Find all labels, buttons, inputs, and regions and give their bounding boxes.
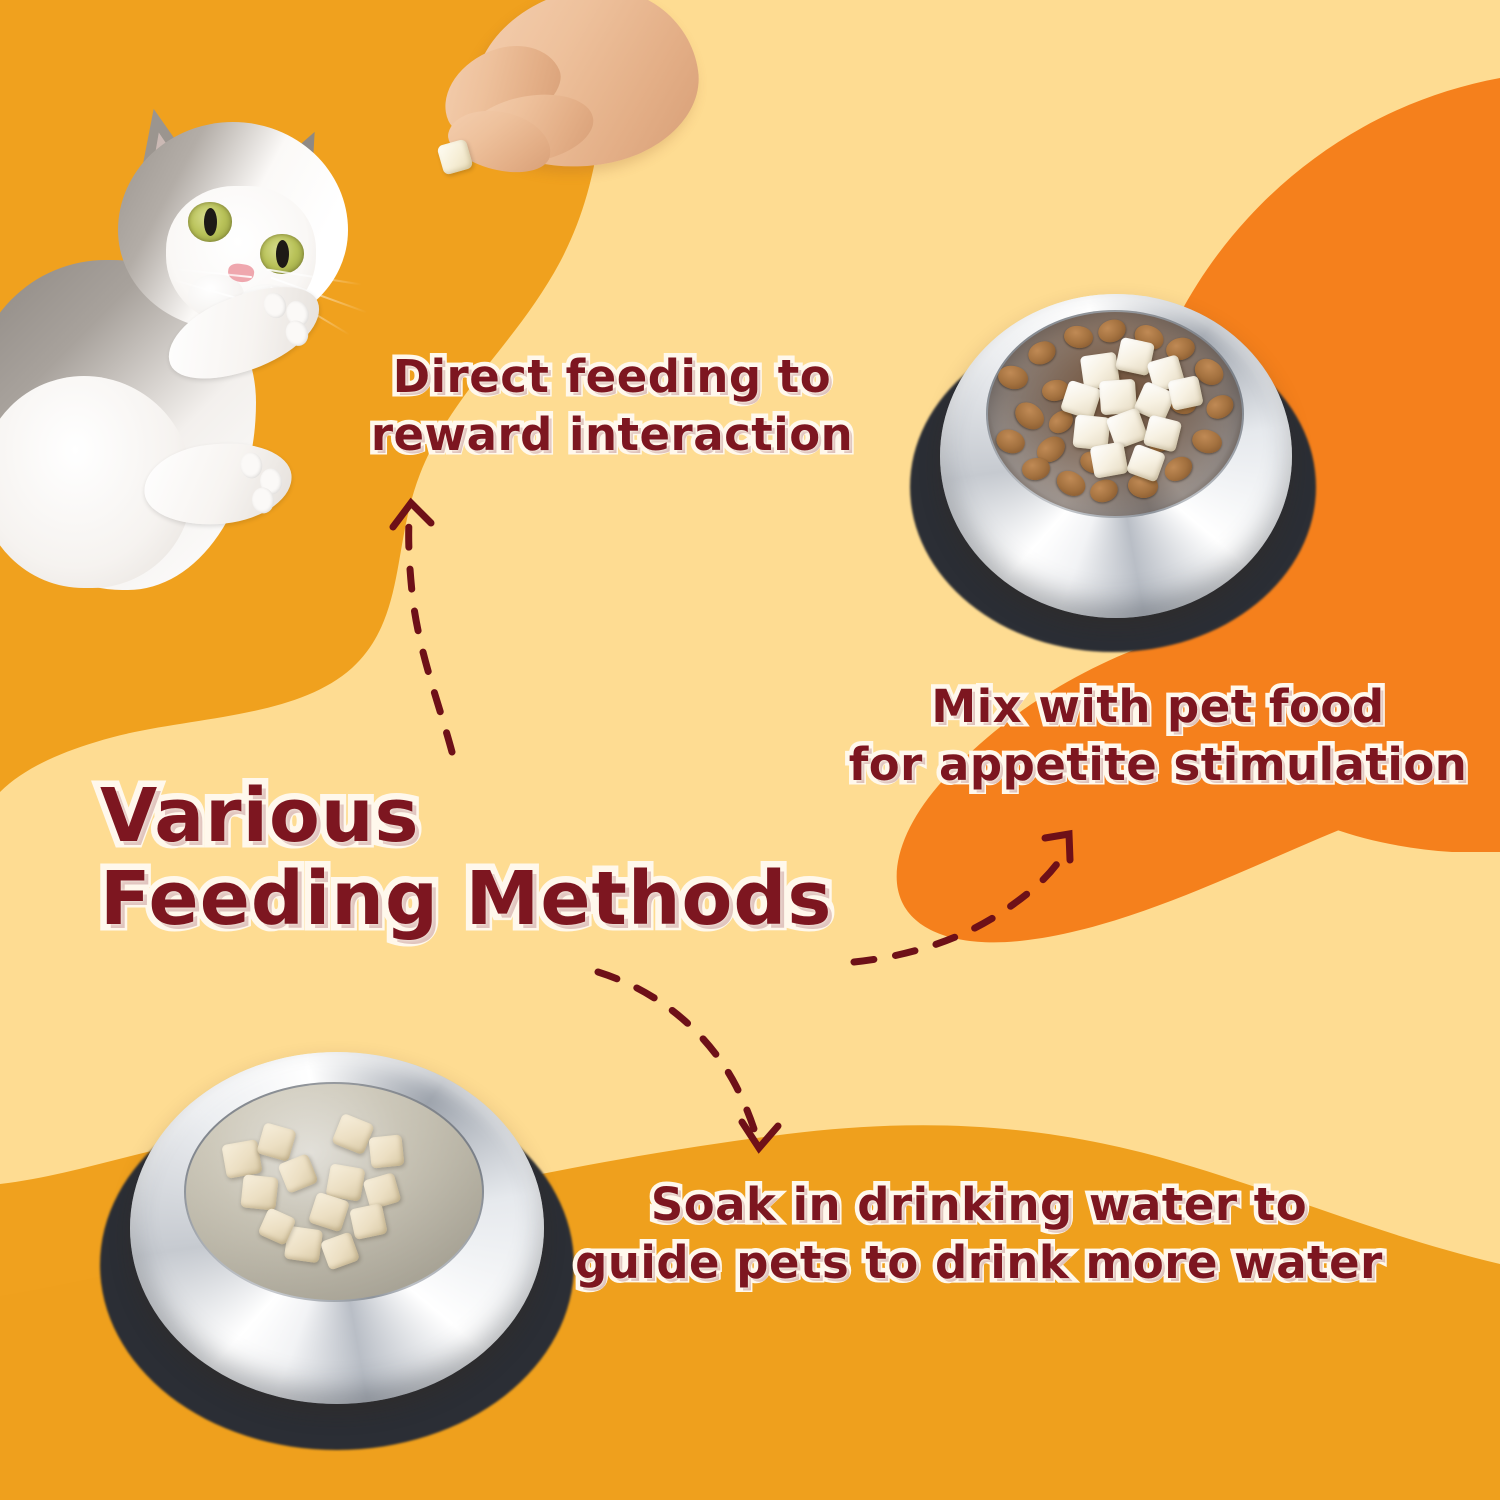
kibble-fill <box>988 312 1242 516</box>
cat-eye-left <box>188 202 232 242</box>
caption-direct-feeding: Direct feeding to reward interaction <box>352 348 872 463</box>
cat-photo <box>0 46 366 606</box>
soaked-treat-cube <box>320 1231 360 1270</box>
water-bowl-photo <box>96 1046 578 1466</box>
water-fill <box>186 1084 482 1300</box>
soaked-treat-cube <box>221 1139 262 1179</box>
caption-soak-in-water: Soak in drinking water to guide pets to … <box>548 1176 1410 1291</box>
soaked-treat-cube <box>331 1113 375 1155</box>
soaked-treat-cube <box>362 1172 401 1210</box>
treat-cube <box>1167 375 1204 411</box>
page-title: Various Feeding Methods <box>100 775 880 941</box>
human-hand-photo <box>418 0 698 220</box>
soaked-treat-cube <box>349 1203 388 1240</box>
infographic-canvas: Direct feeding to reward interaction Mix… <box>0 0 1500 1500</box>
soaked-treat-cube <box>240 1174 278 1210</box>
treat-cube <box>1089 441 1128 478</box>
caption-mix-with-pet-food: Mix with pet food for appetite stimulati… <box>838 678 1478 793</box>
soaked-treat-cube <box>256 1122 297 1162</box>
food-bowl-photo <box>904 282 1322 662</box>
soaked-treat-cube <box>368 1134 404 1168</box>
